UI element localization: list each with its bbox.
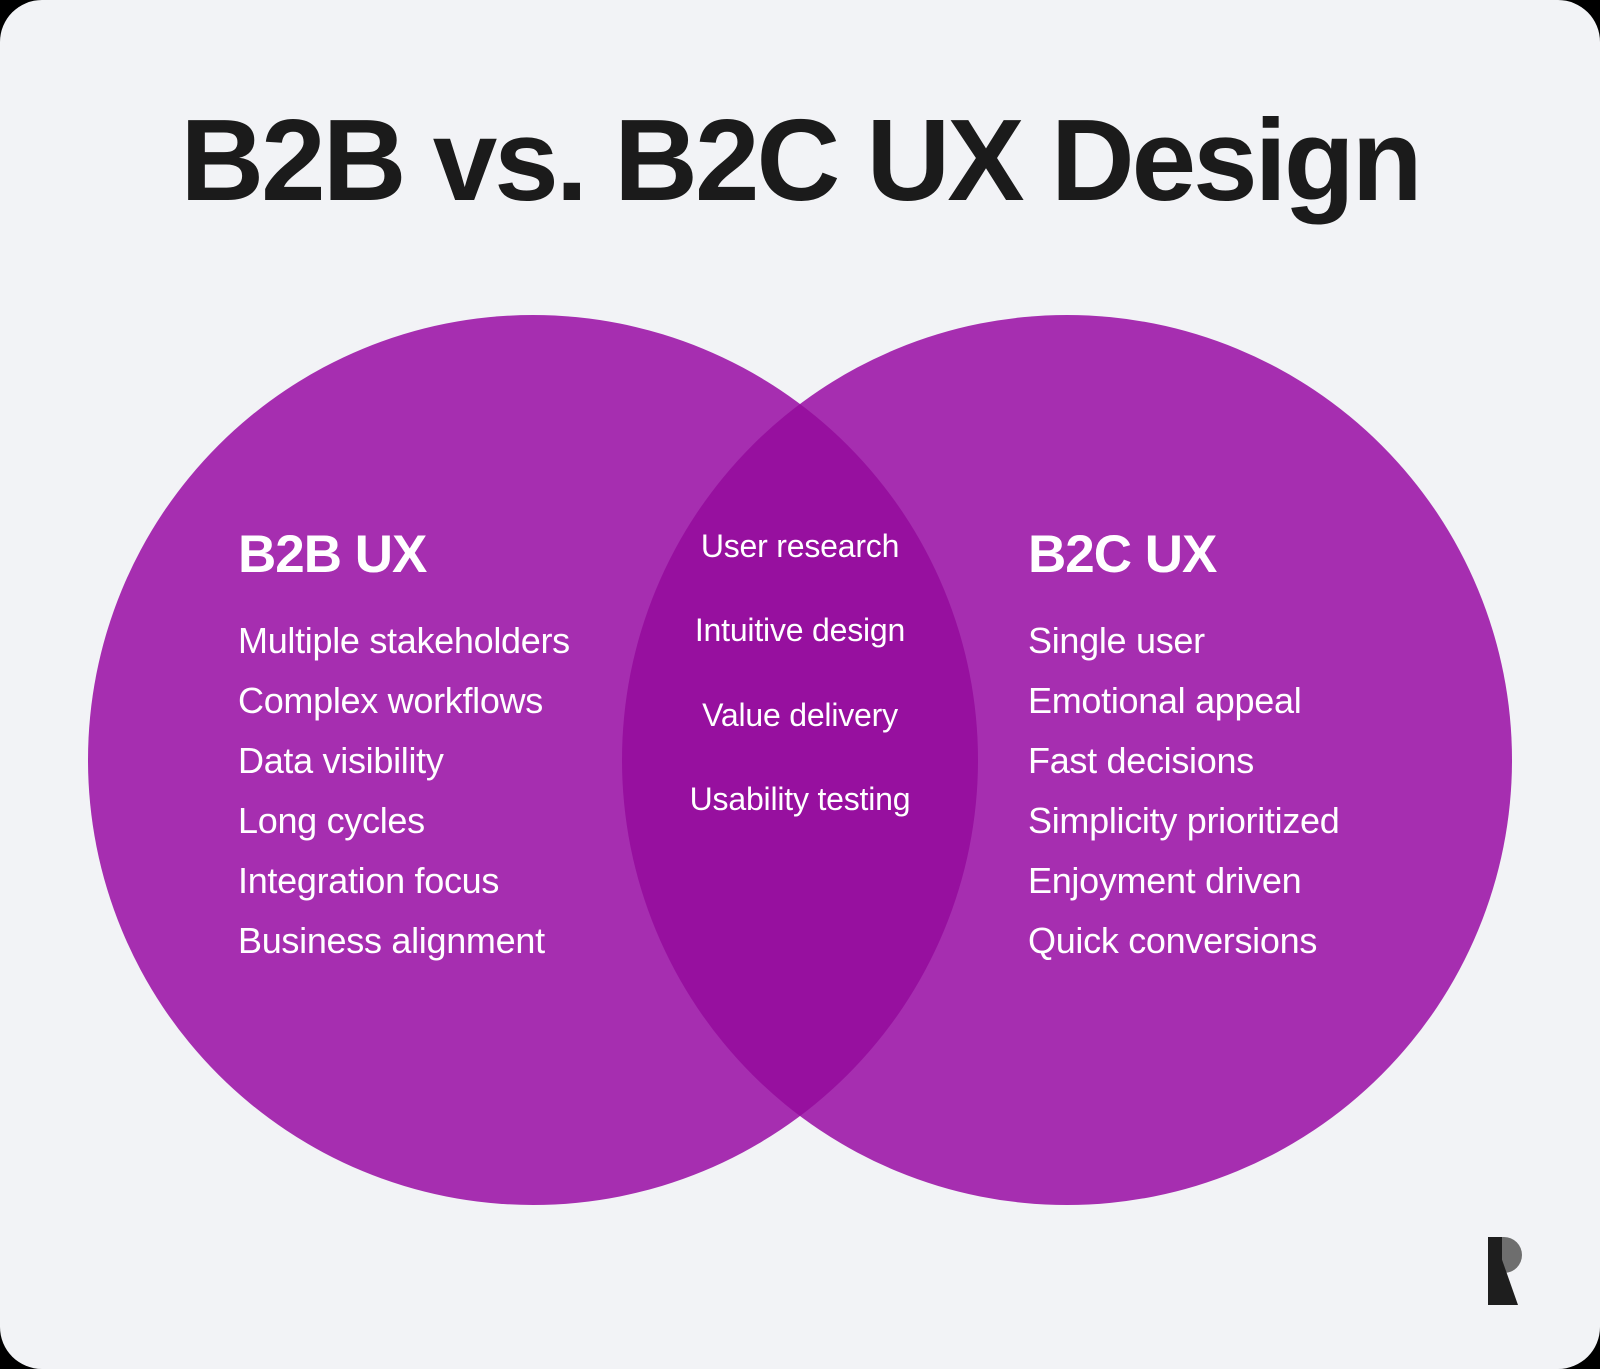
- list-item: Emotional appeal: [1028, 683, 1339, 719]
- list-item: Simplicity prioritized: [1028, 803, 1339, 839]
- list-item: Complex workflows: [238, 683, 570, 719]
- venn-heading-b2c: B2C UX: [1028, 528, 1339, 581]
- venn-list-b2b: Multiple stakeholders Complex workflows …: [238, 623, 570, 959]
- list-item: User research: [640, 528, 960, 564]
- venn-heading-b2b: B2B UX: [238, 528, 570, 581]
- list-item: Single user: [1028, 623, 1339, 659]
- list-item: Enjoyment driven: [1028, 863, 1339, 899]
- list-item: Usability testing: [640, 781, 960, 817]
- venn-list-b2c: Single user Emotional appeal Fast decisi…: [1028, 623, 1339, 959]
- list-item: Value delivery: [640, 697, 960, 733]
- list-item: Quick conversions: [1028, 923, 1339, 959]
- list-item: Multiple stakeholders: [238, 623, 570, 659]
- list-item: Integration focus: [238, 863, 570, 899]
- r-logo-icon: [1472, 1237, 1528, 1305]
- list-item: Intuitive design: [640, 612, 960, 648]
- venn-panel-b2b: B2B UX Multiple stakeholders Complex wor…: [238, 528, 570, 983]
- infographic-card: B2B vs. B2C UX Design B2B UX Multiple st…: [0, 0, 1600, 1369]
- venn-diagram: B2B UX Multiple stakeholders Complex wor…: [0, 0, 1600, 1369]
- venn-panel-b2c: B2C UX Single user Emotional appeal Fast…: [1028, 528, 1339, 983]
- list-item: Business alignment: [238, 923, 570, 959]
- venn-list-shared: User research Intuitive design Value del…: [640, 528, 960, 818]
- list-item: Fast decisions: [1028, 743, 1339, 779]
- list-item: Long cycles: [238, 803, 570, 839]
- venn-panel-shared: User research Intuitive design Value del…: [640, 528, 960, 818]
- list-item: Data visibility: [238, 743, 570, 779]
